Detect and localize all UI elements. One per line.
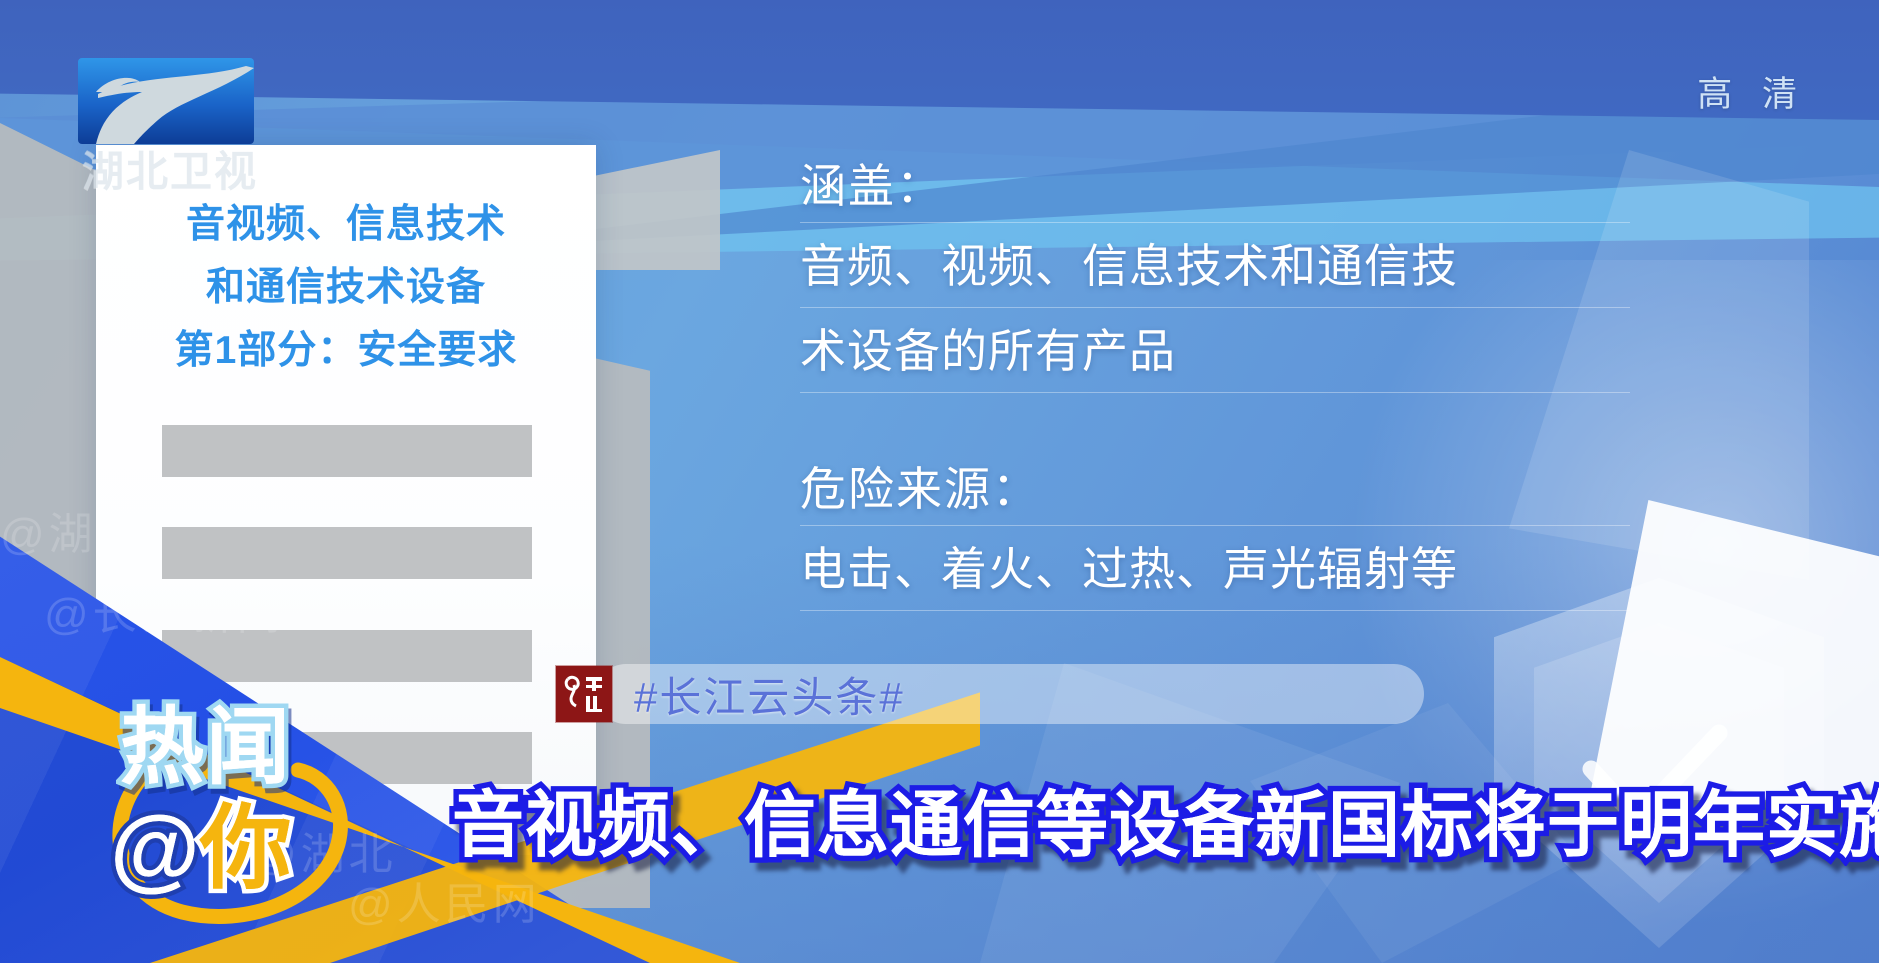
broadcast-frame: 音视频、信息技术 和通信技术设备 第1部分：安全要求 涵盖： 音频、视频、信息技… — [0, 0, 1879, 963]
info-panel: 涵盖： 音频、视频、信息技术和通信技 术设备的所有产品 危险来源： 电击、着火、… — [800, 150, 1630, 615]
info-hazards-line-1: 电击、着火、过热、声光辐射等 — [800, 530, 1630, 608]
document-title-line-2: 和通信技术设备 — [96, 256, 596, 319]
document-title: 音视频、信息技术 和通信技术设备 第1部分：安全要求 — [96, 193, 596, 382]
document-placeholder-bar — [162, 425, 532, 477]
program-logo-line-2: @你 — [110, 774, 292, 907]
document-placeholder-bar — [162, 527, 532, 579]
document-placeholder-bar — [162, 630, 532, 682]
divider — [800, 525, 1630, 526]
divider — [800, 222, 1630, 223]
program-logo: 热闻 热闻 @你 @你 — [92, 680, 382, 935]
hd-badge: 高 清 — [1697, 66, 1807, 117]
info-section-heading-hazards: 危险来源： — [800, 453, 1630, 519]
divider — [800, 392, 1630, 393]
hubei-tv-logo-icon — [78, 58, 254, 144]
headline-text: 音视频、信息通信等设备新国标将于明年实施 — [452, 766, 1879, 871]
program-logo-you: 你 — [200, 798, 292, 900]
divider — [800, 307, 1630, 308]
changjiang-seal-icon — [556, 666, 612, 722]
document-title-line-1: 音视频、信息技术 — [96, 193, 596, 256]
info-coverage-line-2: 术设备的所有产品 — [800, 312, 1630, 390]
info-coverage-line-1: 音频、视频、信息技术和通信技 — [800, 227, 1630, 305]
document-title-line-3: 第1部分：安全要求 — [96, 319, 596, 382]
hashtag-label: #长江云头条# — [634, 664, 905, 725]
channel-name-label: 湖北卫视 — [82, 138, 258, 199]
at-symbol: @ — [110, 798, 200, 900]
info-section-heading-coverage: 涵盖： — [800, 150, 1630, 216]
spacer — [800, 397, 1630, 453]
hashtag-row: #长江云头条# — [556, 660, 905, 728]
divider — [800, 610, 1630, 611]
